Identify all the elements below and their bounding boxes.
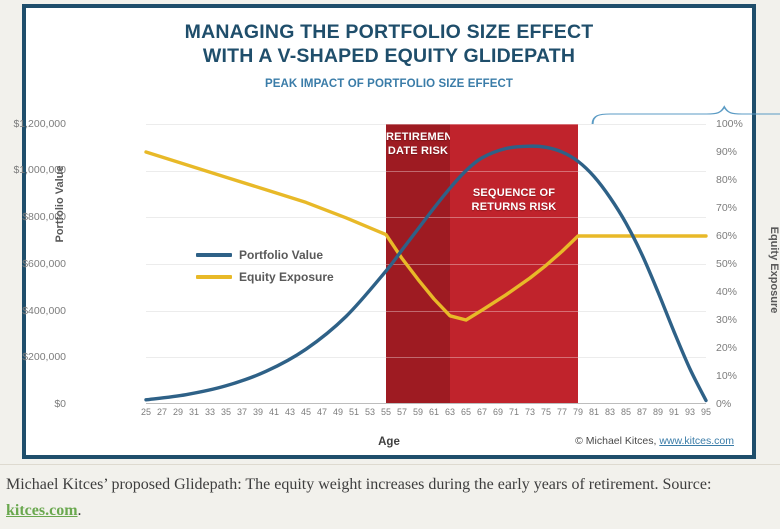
y-tick-right-60: 60%	[716, 230, 766, 242]
chart-figure: MANAGING THE PORTFOLIO SIZE EFFECT WITH …	[22, 4, 756, 459]
x-tick-57: 57	[397, 407, 407, 417]
y-tick-right-20: 20%	[716, 342, 766, 354]
x-tick-65: 65	[461, 407, 471, 417]
chart-subtitle: PEAK IMPACT OF PORTFOLIO SIZE EFFECT	[26, 78, 752, 90]
x-tick-67: 67	[477, 407, 487, 417]
x-tick-77: 77	[557, 407, 567, 417]
y-tick-left-400000: $400,000	[0, 305, 66, 317]
x-tick-71: 71	[509, 407, 519, 417]
x-tick-49: 49	[333, 407, 343, 417]
x-tick-29: 29	[173, 407, 183, 417]
legend-label-portfolio-value: Portfolio Value	[239, 248, 323, 262]
legend-item-portfolio-value: Portfolio Value	[196, 244, 334, 266]
x-tick-27: 27	[157, 407, 167, 417]
y-tick-right-10: 10%	[716, 370, 766, 382]
x-tick-47: 47	[317, 407, 327, 417]
chart-title: MANAGING THE PORTFOLIO SIZE EFFECT WITH …	[26, 20, 752, 68]
y-tick-right-50: 50%	[716, 258, 766, 270]
x-tick-73: 73	[525, 407, 535, 417]
y-axis-label-left: Portfolio Value	[54, 165, 66, 242]
y-tick-right-0: 0%	[716, 398, 766, 410]
chart-credit-link[interactable]: www.kitces.com	[659, 435, 734, 447]
legend-swatch-portfolio-value	[196, 253, 232, 257]
x-tick-85: 85	[621, 407, 631, 417]
chart-credit: © Michael Kitces, www.kitces.com	[575, 435, 734, 447]
x-tick-61: 61	[429, 407, 439, 417]
caption-link-kitces[interactable]: kitces.com	[6, 502, 78, 519]
x-tick-41: 41	[269, 407, 279, 417]
page-root: MANAGING THE PORTFOLIO SIZE EFFECT WITH …	[0, 0, 780, 529]
x-tick-69: 69	[493, 407, 503, 417]
x-axis-line	[146, 403, 706, 404]
y-tick-left-0: $0	[0, 398, 66, 410]
x-tick-89: 89	[653, 407, 663, 417]
legend-swatch-equity-exposure	[196, 275, 232, 279]
x-tick-31: 31	[189, 407, 199, 417]
x-tick-81: 81	[589, 407, 599, 417]
legend-label-equity-exposure: Equity Exposure	[239, 270, 334, 284]
y-tick-right-40: 40%	[716, 286, 766, 298]
x-tick-51: 51	[349, 407, 359, 417]
chart-title-line-2: WITH A V-SHAPED EQUITY GLIDEPATH	[26, 44, 752, 68]
y-tick-right-30: 30%	[716, 314, 766, 326]
chart-title-line-1: MANAGING THE PORTFOLIO SIZE EFFECT	[26, 20, 752, 44]
legend-item-equity-exposure: Equity Exposure	[196, 266, 334, 288]
x-tick-93: 93	[685, 407, 695, 417]
x-tick-91: 91	[669, 407, 679, 417]
y-tick-right-70: 70%	[716, 202, 766, 214]
y-tick-left-800000: $800,000	[0, 211, 66, 223]
x-tick-95: 95	[701, 407, 711, 417]
x-tick-45: 45	[301, 407, 311, 417]
figure-caption: Michael Kitces’ proposed Glidepath: The …	[6, 472, 766, 524]
caption-text-after: .	[78, 502, 82, 519]
x-tick-53: 53	[365, 407, 375, 417]
x-tick-35: 35	[221, 407, 231, 417]
y-tick-right-80: 80%	[716, 174, 766, 186]
x-tick-75: 75	[541, 407, 551, 417]
x-tick-33: 33	[205, 407, 215, 417]
y-tick-left-200000: $200,000	[0, 351, 66, 363]
x-tick-37: 37	[237, 407, 247, 417]
y-tick-left-1200000: $1,200,000	[0, 118, 66, 130]
x-tick-83: 83	[605, 407, 615, 417]
x-tick-87: 87	[637, 407, 647, 417]
y-tick-left-600000: $600,000	[0, 258, 66, 270]
series-equity-exposure-line	[146, 152, 706, 320]
caption-divider	[0, 464, 780, 465]
x-tick-43: 43	[285, 407, 295, 417]
y-tick-right-100: 100%	[716, 118, 766, 130]
x-axis-ticks: 2527293133353739414345474951535557596163…	[146, 407, 706, 421]
x-tick-63: 63	[445, 407, 455, 417]
peak-impact-brace-icon	[146, 104, 706, 126]
chart-legend: Portfolio Value Equity Exposure	[196, 244, 334, 288]
chart-credit-text: © Michael Kitces,	[575, 435, 656, 447]
y-axis-label-right: Equity Exposure	[768, 227, 780, 314]
x-tick-55: 55	[381, 407, 391, 417]
caption-text-before: Michael Kitces’ proposed Glidepath: The …	[6, 476, 711, 493]
x-tick-79: 79	[573, 407, 583, 417]
x-tick-59: 59	[413, 407, 423, 417]
y-tick-right-90: 90%	[716, 146, 766, 158]
x-tick-39: 39	[253, 407, 263, 417]
x-tick-25: 25	[141, 407, 151, 417]
y-tick-left-1000000: $1,000,000	[0, 164, 66, 176]
